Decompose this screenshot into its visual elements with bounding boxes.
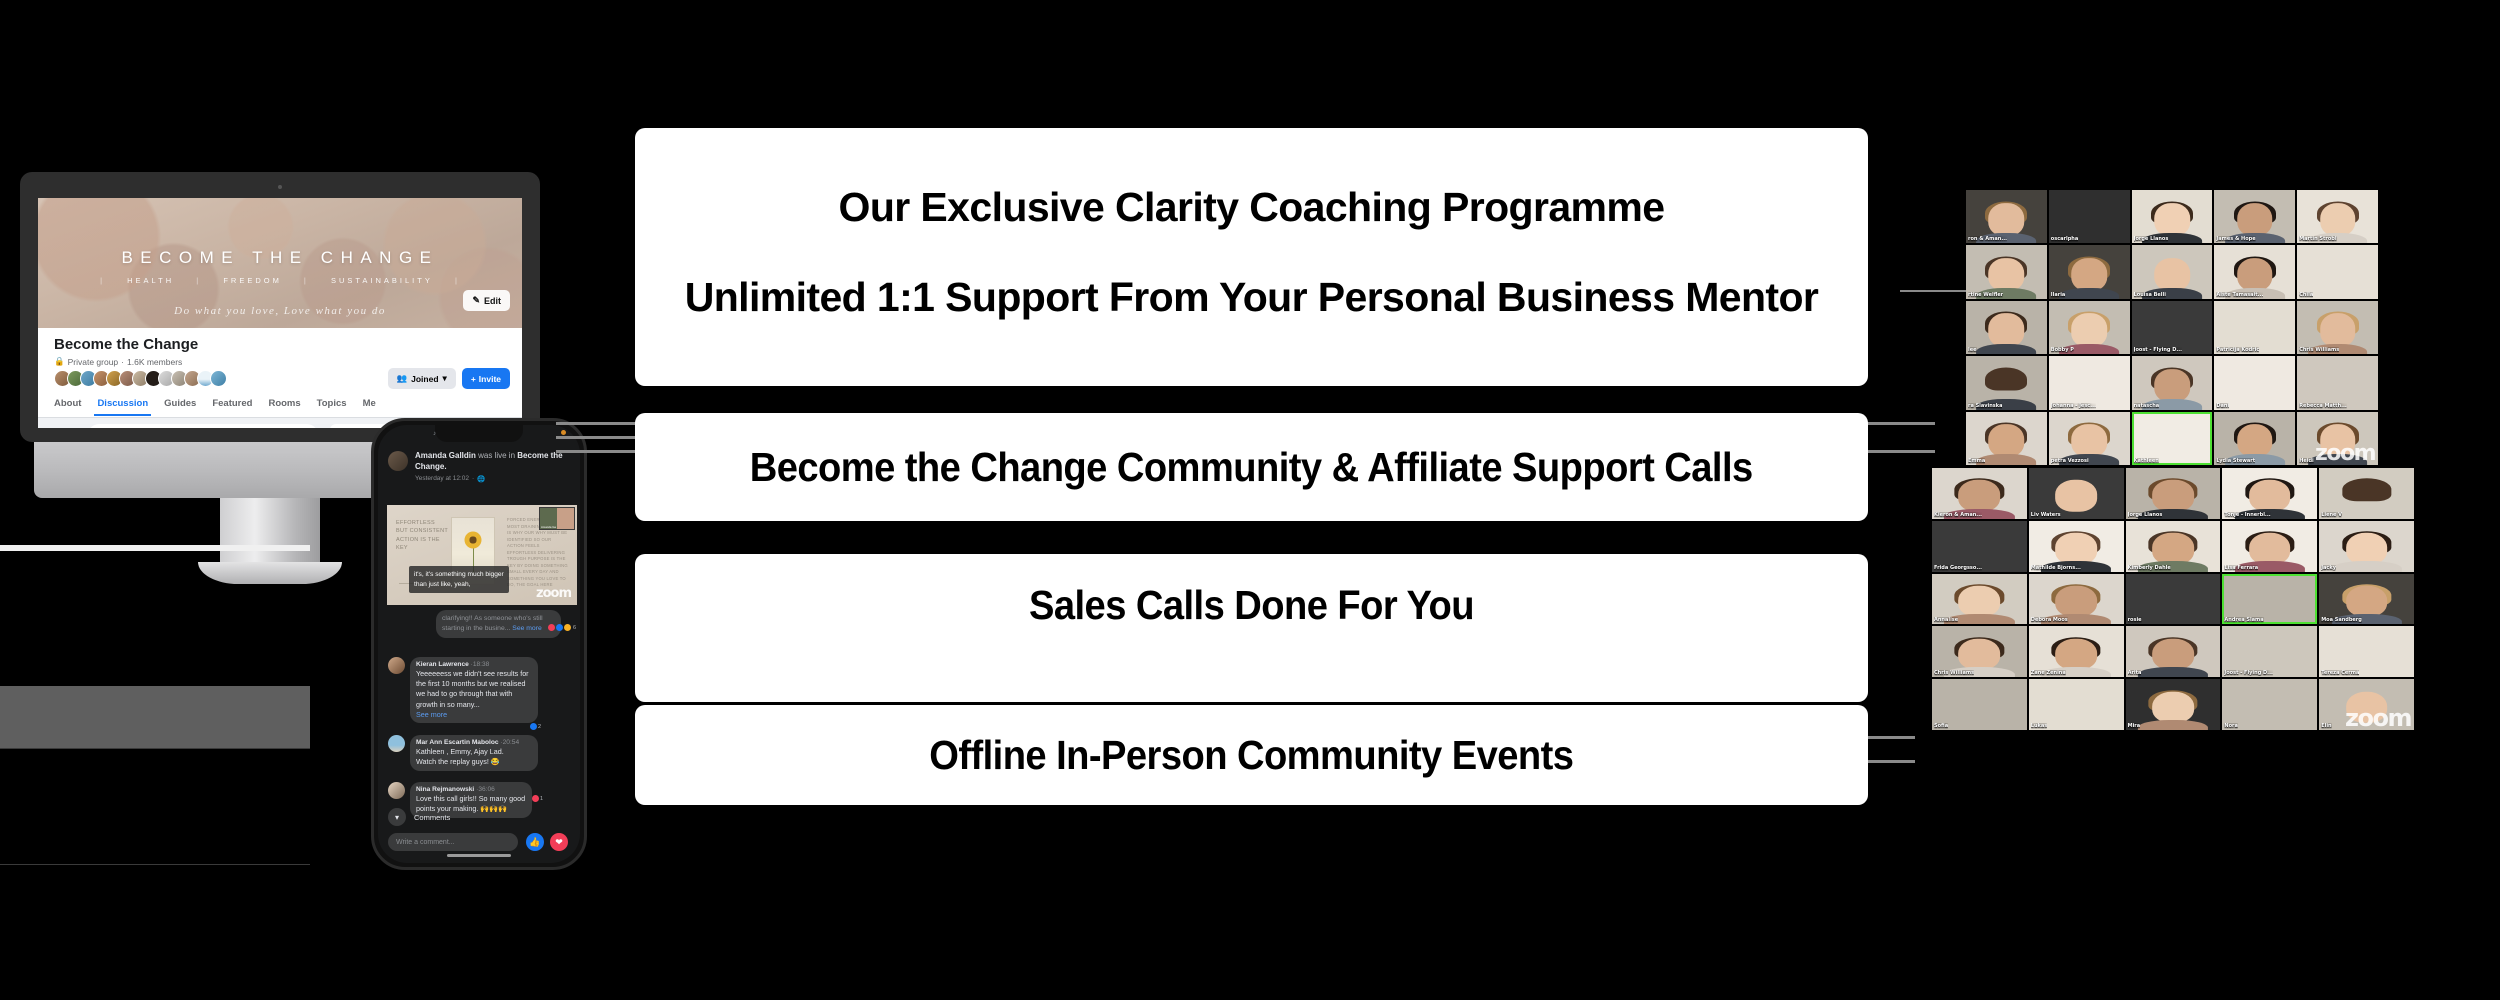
zoom-participant-tile[interactable]: Kimberly Dahle xyxy=(2126,521,2221,572)
participant-face xyxy=(1959,639,2001,670)
zoom-participant-tile[interactable]: Mathilde Bjorns... xyxy=(2029,521,2124,572)
zoom-call-grid-2[interactable]: Kieron & Aman...Liv WatersJorge LlanosTo… xyxy=(1932,468,2414,730)
zoom-participant-tile[interactable]: Rebecca Matth... xyxy=(2297,356,2378,409)
participant-name-label: Lukas xyxy=(2031,723,2047,729)
participant-face xyxy=(2071,203,2107,236)
participant-face xyxy=(2320,203,2356,236)
participant-name-label: oscarlpha xyxy=(2051,236,2078,242)
zoom-participant-tile[interactable]: Andrea Slama xyxy=(2222,574,2317,625)
participant-name-label: Rebecca Matth... xyxy=(2299,403,2347,409)
zoom-participant-tile[interactable]: Debora Moos xyxy=(2029,574,2124,625)
participant-face xyxy=(2320,369,2356,402)
participant-face xyxy=(1959,533,2001,564)
participant-face xyxy=(2249,480,2291,511)
zoom-participant-tile[interactable]: Dani xyxy=(2214,356,2295,409)
zoom-participant-tile[interactable]: Jacky xyxy=(2319,521,2414,572)
zoom-participant-tile[interactable]: Lukas xyxy=(2029,679,2124,730)
participant-face xyxy=(2237,369,2273,402)
participant-name-label: Heidi xyxy=(2299,458,2314,464)
participant-face xyxy=(2154,369,2190,402)
participant-name-label: petra Vezzosi xyxy=(2051,458,2089,464)
feature-panel-title: Become the Change Community & Affiliate … xyxy=(750,444,1753,491)
participant-name-label: Aiste Tamasait... xyxy=(2216,292,2263,298)
participant-face xyxy=(2152,639,2194,670)
participant-face xyxy=(2320,258,2356,291)
participant-face xyxy=(2071,314,2107,347)
participant-torso xyxy=(2059,288,2119,299)
participant-face xyxy=(2071,424,2107,457)
participant-torso xyxy=(1944,720,2014,730)
participant-torso xyxy=(2138,667,2208,677)
zoom-participant-tile[interactable]: Nora xyxy=(2222,679,2317,730)
zoom-participant-tile[interactable]: Liv Waters xyxy=(2029,468,2124,519)
participant-name-label: Mira xyxy=(2128,723,2141,729)
participant-face xyxy=(2055,691,2097,722)
zoom-participant-tile[interactable]: Arita xyxy=(2126,626,2221,677)
participant-face xyxy=(2055,533,2097,564)
participant-face xyxy=(2346,639,2388,670)
participant-face xyxy=(2237,258,2273,291)
participant-torso xyxy=(2138,614,2208,624)
participant-name-label: Lydia Stewart xyxy=(2216,458,2255,464)
participant-name-label: Lisa Ferrara xyxy=(2224,565,2258,571)
zoom-participant-tile[interactable]: ra Slavinska xyxy=(1966,356,2047,409)
participant-name-label: ra Slavinska xyxy=(1968,403,2002,409)
participant-name-label: Johanna - Jesc... xyxy=(2051,403,2096,409)
participant-name-label: Liene V xyxy=(2321,512,2342,518)
zoom-participant-tile[interactable]: Tereza Čermá xyxy=(2319,626,2414,677)
zoom-call-grid-1[interactable]: ron & Aman...oscarlphaJorge LlanosJames … xyxy=(1966,190,2378,465)
feature-panel-clarity-coaching[interactable]: Our Exclusive Clarity Coaching Programme… xyxy=(635,128,1868,386)
participant-torso xyxy=(1977,454,2037,465)
zoom-participant-tile[interactable]: Aiste Tamasait... xyxy=(2214,245,2295,298)
zoom-participant-tile[interactable]: Martin Strobl xyxy=(2297,190,2378,243)
participant-name-label: rtine Welfler xyxy=(1968,292,2003,298)
zoom-participant-tile[interactable]: Emma xyxy=(1966,412,2047,465)
zoom-participant-tile[interactable]: Patricija Kodric xyxy=(2214,301,2295,354)
participant-name-label: Debora Moos xyxy=(2031,617,2068,623)
participant-face xyxy=(2154,314,2190,347)
participant-name-label: natascha xyxy=(2134,403,2160,409)
participant-face xyxy=(2154,203,2190,236)
participant-face xyxy=(2152,691,2194,722)
participant-face xyxy=(2237,314,2273,347)
participant-face xyxy=(1989,203,2025,236)
feature-panel-title: Our Exclusive Clarity Coaching Programme xyxy=(839,184,1665,230)
zoom-participant-tile[interactable]: natascha xyxy=(2132,356,2213,409)
participant-name-label: Andrea Slama xyxy=(2224,617,2263,623)
participant-face xyxy=(2055,480,2097,511)
zoom-participant-tile[interactable]: Jorge Llanos xyxy=(2132,190,2213,243)
participant-name-label: Chila xyxy=(2299,292,2313,298)
participant-face xyxy=(1959,586,2001,617)
zoom-participant-tile[interactable]: Joost - Flying D... xyxy=(2132,301,2213,354)
participant-name-label: Arita xyxy=(2128,670,2142,676)
zoom-participant-tile[interactable]: Mira xyxy=(2126,679,2221,730)
participant-face xyxy=(2237,424,2273,457)
participant-name-label: Ilaria xyxy=(2051,292,2066,298)
participant-name-label: Moa Sandberg xyxy=(2321,617,2362,623)
participant-face xyxy=(2071,369,2107,402)
participant-face xyxy=(1959,480,2001,511)
participant-name-label: Kathleen xyxy=(2134,458,2159,464)
participant-name-label: Nora xyxy=(2224,723,2237,729)
participant-name-label: ron & Aman... xyxy=(1968,236,2007,242)
panel-line-wrap: Unlimited 1:1 Support From Your Personal… xyxy=(635,274,1868,321)
participant-name-label: Patricija Kodric xyxy=(2216,347,2259,353)
zoom-watermark: zoom xyxy=(2345,706,2411,730)
participant-name-label: Martin Strobl xyxy=(2299,236,2336,242)
participant-name-label: Annalise xyxy=(1934,617,1958,623)
participant-face xyxy=(2249,639,2291,670)
participant-name-label: Mathilde Bjorns... xyxy=(2031,565,2081,571)
zoom-participant-tile[interactable]: Zane Zenina xyxy=(2029,626,2124,677)
participant-name-label: Kieron & Aman... xyxy=(1934,512,1982,518)
zoom-participant-tile[interactable]: James & Hope xyxy=(2214,190,2295,243)
participant-torso xyxy=(2225,399,2285,410)
participant-torso xyxy=(2235,720,2305,730)
participant-face xyxy=(2055,639,2097,670)
participant-name-label: Emma xyxy=(1968,458,1985,464)
participant-name-label: Elin xyxy=(2321,723,2331,729)
zoom-participant-tile[interactable]: Louisa Belli xyxy=(2132,245,2213,298)
zoom-participant-tile[interactable]: Bobby P xyxy=(2049,301,2130,354)
participant-face xyxy=(1959,691,2001,722)
participant-face xyxy=(2152,586,2194,617)
participant-face xyxy=(2346,533,2388,564)
participant-name-label: Kimberly Dahle xyxy=(2128,565,2171,571)
participant-name-label: Bobby P xyxy=(2051,347,2074,353)
panel-line-wrap: Our Exclusive Clarity Coaching Programme xyxy=(635,184,1868,231)
participant-name-label: Dani xyxy=(2216,403,2229,409)
participant-name-label: Chris Williams xyxy=(2299,347,2339,353)
participant-face xyxy=(2154,258,2190,291)
zoom-participant-tile[interactable]: Lisa Ferrara xyxy=(2222,521,2317,572)
zoom-participant-tile[interactable]: Jorge Llanos xyxy=(2126,468,2221,519)
participant-name-label: Jacky xyxy=(2321,565,2336,571)
feature-panel-offline-events[interactable]: Offline In-Person Community Events xyxy=(635,705,1868,805)
zoom-participant-tile[interactable]: Johanna - Jesc... xyxy=(2049,356,2130,409)
zoom-participant-tile[interactable]: oscarlpha xyxy=(2049,190,2130,243)
zoom-participant-tile[interactable]: Tonje - Innerbl... xyxy=(2222,468,2317,519)
feature-panel-subtitle: Unlimited 1:1 Support From Your Personal… xyxy=(685,274,1819,320)
zoom-watermark: zoom xyxy=(2315,443,2375,465)
participant-torso xyxy=(2041,720,2111,730)
participant-face xyxy=(1989,258,2025,291)
zoom-participant-tile[interactable]: rosie xyxy=(2126,574,2221,625)
participant-face xyxy=(1989,369,2025,402)
participant-name-label: Louisa Belli xyxy=(2134,292,2166,298)
zoom-participant-tile[interactable]: Liene V xyxy=(2319,468,2414,519)
participant-face xyxy=(2346,586,2388,617)
participant-face xyxy=(2055,586,2097,617)
participant-name-label: James & Hope xyxy=(2216,236,2255,242)
zoom-participant-tile[interactable]: Kieron & Aman... xyxy=(1932,468,2027,519)
participant-name-label: Chris Williams xyxy=(1934,670,1974,676)
participant-name-label: Liv Waters xyxy=(2031,512,2061,518)
participant-face xyxy=(2154,424,2190,457)
participant-torso xyxy=(1977,344,2037,355)
participant-name-label: Tonje - Innerbl... xyxy=(2224,512,2270,518)
participant-name-label: Jorge Llanos xyxy=(2134,236,2169,242)
feature-panel-community-support-calls[interactable]: Become the Change Community & Affiliate … xyxy=(635,413,1868,521)
participant-face xyxy=(2152,480,2194,511)
participant-name-label: Frida Georgsso... xyxy=(1934,565,1982,571)
zoom-participant-tile[interactable]: Moa Sandberg xyxy=(2319,574,2414,625)
participant-face xyxy=(2249,533,2291,564)
participant-face xyxy=(1989,314,2025,347)
feature-panel-sales-calls[interactable]: Sales Calls Done For You xyxy=(635,554,1868,702)
zoom-participant-tile[interactable]: Chris Williams xyxy=(2297,301,2378,354)
participant-face xyxy=(1989,424,2025,457)
participant-torso xyxy=(2138,720,2208,730)
zoom-participant-tile[interactable]: petra Vezzosi xyxy=(2049,412,2130,465)
participant-name-label: Jorge Llanos xyxy=(2128,512,2163,518)
zoom-participant-tile[interactable]: Ilaria xyxy=(2049,245,2130,298)
participant-name-label: Zane Zenina xyxy=(2031,670,2066,676)
participant-name-label: Tereza Čermá xyxy=(2321,670,2359,676)
participant-name-label: rosie xyxy=(2128,617,2142,623)
participant-face xyxy=(2249,691,2291,722)
participant-name-label: lee xyxy=(1968,347,1977,353)
feature-panel-title: Sales Calls Done For You xyxy=(678,582,1825,629)
participant-face xyxy=(2152,533,2194,564)
participant-name-label: Sofia xyxy=(1934,723,1948,729)
zoom-participant-tile[interactable]: lee xyxy=(1966,301,2047,354)
feature-panel-title: Offline In-Person Community Events xyxy=(929,732,1573,779)
zoom-participant-tile[interactable]: rtine Welfler xyxy=(1966,245,2047,298)
participant-torso xyxy=(2332,561,2402,571)
zoom-participant-tile[interactable]: Frida Georgsso... xyxy=(1932,521,2027,572)
zoom-participant-tile[interactable]: Chris Williams xyxy=(1932,626,2027,677)
participant-name-label: Joost - Flying D... xyxy=(2134,347,2182,353)
zoom-participant-tile[interactable]: Annalise xyxy=(1932,574,2027,625)
zoom-participant-tile[interactable]: Joost - Flying D... xyxy=(2222,626,2317,677)
participant-face xyxy=(2071,258,2107,291)
zoom-participant-tile[interactable]: Sofia xyxy=(1932,679,2027,730)
participant-face xyxy=(2237,203,2273,236)
zoom-participant-tile[interactable]: ron & Aman... xyxy=(1966,190,2047,243)
participant-face xyxy=(2346,480,2388,511)
zoom-participant-tile[interactable]: Chila xyxy=(2297,245,2378,298)
participant-name-label: Joost - Flying D... xyxy=(2224,670,2272,676)
participant-face xyxy=(2249,586,2291,617)
zoom-participant-tile[interactable]: Kathleen xyxy=(2132,412,2213,465)
participant-face xyxy=(2320,314,2356,347)
participant-torso xyxy=(2308,288,2368,299)
zoom-participant-tile[interactable]: Lydia Stewart xyxy=(2214,412,2295,465)
